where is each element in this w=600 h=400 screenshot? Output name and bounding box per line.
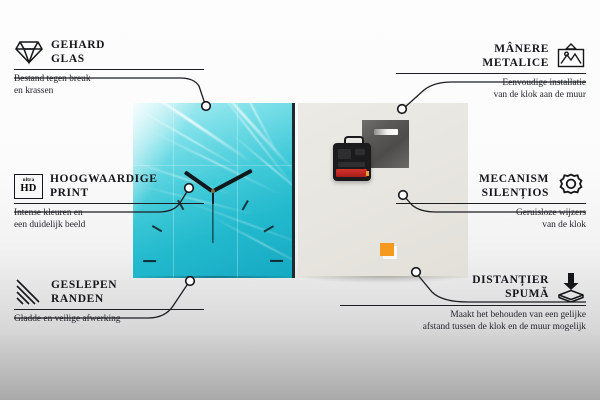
feature-desc: afstand tussen de klok en de muur mogeli… — [340, 321, 586, 333]
spacer-arrow-icon — [556, 272, 586, 302]
feature-desc: Bestand tegen breuk — [14, 73, 204, 85]
feature-title: MECANISM SILENȚIOS — [479, 172, 549, 200]
beveled-edge-icon — [14, 279, 44, 305]
feature-hoogwaardige-print: ultra HD HOOGWAARDIGE PRINT Intense kleu… — [14, 172, 204, 232]
feature-desc: Eenvoudige installatie — [396, 77, 586, 89]
feature-title: MÂNERE METALICE — [482, 42, 549, 70]
divider — [14, 69, 204, 70]
divider — [14, 203, 204, 204]
ultra-hd-icon: ultra HD — [14, 174, 43, 199]
quartz-mechanism — [333, 143, 371, 181]
divider — [340, 305, 586, 306]
mechanism-detail — [338, 162, 365, 167]
foam-spacer — [380, 243, 394, 256]
clock-tick — [143, 259, 156, 261]
feature-desc: Geruisloze wijzers — [396, 207, 586, 219]
feature-desc: Maakt het behouden van een gelijke — [340, 309, 586, 321]
mechanism-hanger-loop — [344, 136, 364, 148]
mechanism-detail — [355, 149, 365, 155]
mechanism-detail — [338, 149, 351, 159]
clock-tick — [270, 259, 283, 261]
feature-desc: een duidelijk beeld — [14, 219, 204, 231]
hanging-frame-icon — [556, 43, 586, 70]
aa-battery — [336, 169, 367, 177]
clock-center-cap — [211, 189, 215, 193]
clock-second-hand — [212, 191, 213, 243]
feature-desc: van de klok aan de muur — [396, 89, 586, 101]
feature-title: HOOGWAARDIGE PRINT — [50, 172, 158, 200]
glass-seam — [133, 165, 292, 166]
ultra-hd-icon-top-text: ultra — [23, 178, 35, 183]
feature-desc: en krassen — [14, 85, 204, 97]
divider — [396, 73, 586, 74]
hanger-slot — [374, 129, 398, 135]
feature-title: GESLEPEN RANDEN — [51, 278, 117, 306]
gear-icon — [556, 172, 586, 200]
divider — [396, 203, 586, 204]
feature-gehard-glas: GEHARD GLAS Bestand tegen breuk en krass… — [14, 38, 204, 98]
divider — [14, 309, 204, 310]
ultra-hd-icon-main-text: HD — [20, 184, 36, 195]
diamond-icon — [14, 39, 44, 65]
glass-seam — [237, 103, 238, 278]
feature-desc: van de klok — [396, 219, 586, 231]
feather-streak — [133, 105, 245, 172]
clock-tick — [241, 199, 248, 209]
feature-desc: Intense kleuren en — [14, 207, 204, 219]
feature-distantier-spuma: DISTANȚIER SPUMĂ Maakt het behouden van … — [340, 272, 586, 334]
feature-geslepen-randen: GESLEPEN RANDEN Gladde en veilige afwerk… — [14, 278, 204, 325]
feature-title: DISTANȚIER SPUMĂ — [472, 273, 549, 301]
feature-manere-metalice: MÂNERE METALICE Eenvoudige installatie v… — [396, 42, 586, 102]
product-infographic: GEHARD GLAS Bestand tegen breuk en krass… — [0, 0, 600, 400]
feature-desc: Gladde en veilige afwerking — [14, 313, 204, 325]
feature-mecanism-silentios: MECANISM SILENȚIOS Geruisloze wijzers va… — [396, 172, 586, 232]
feature-title: GEHARD GLAS — [51, 38, 105, 66]
